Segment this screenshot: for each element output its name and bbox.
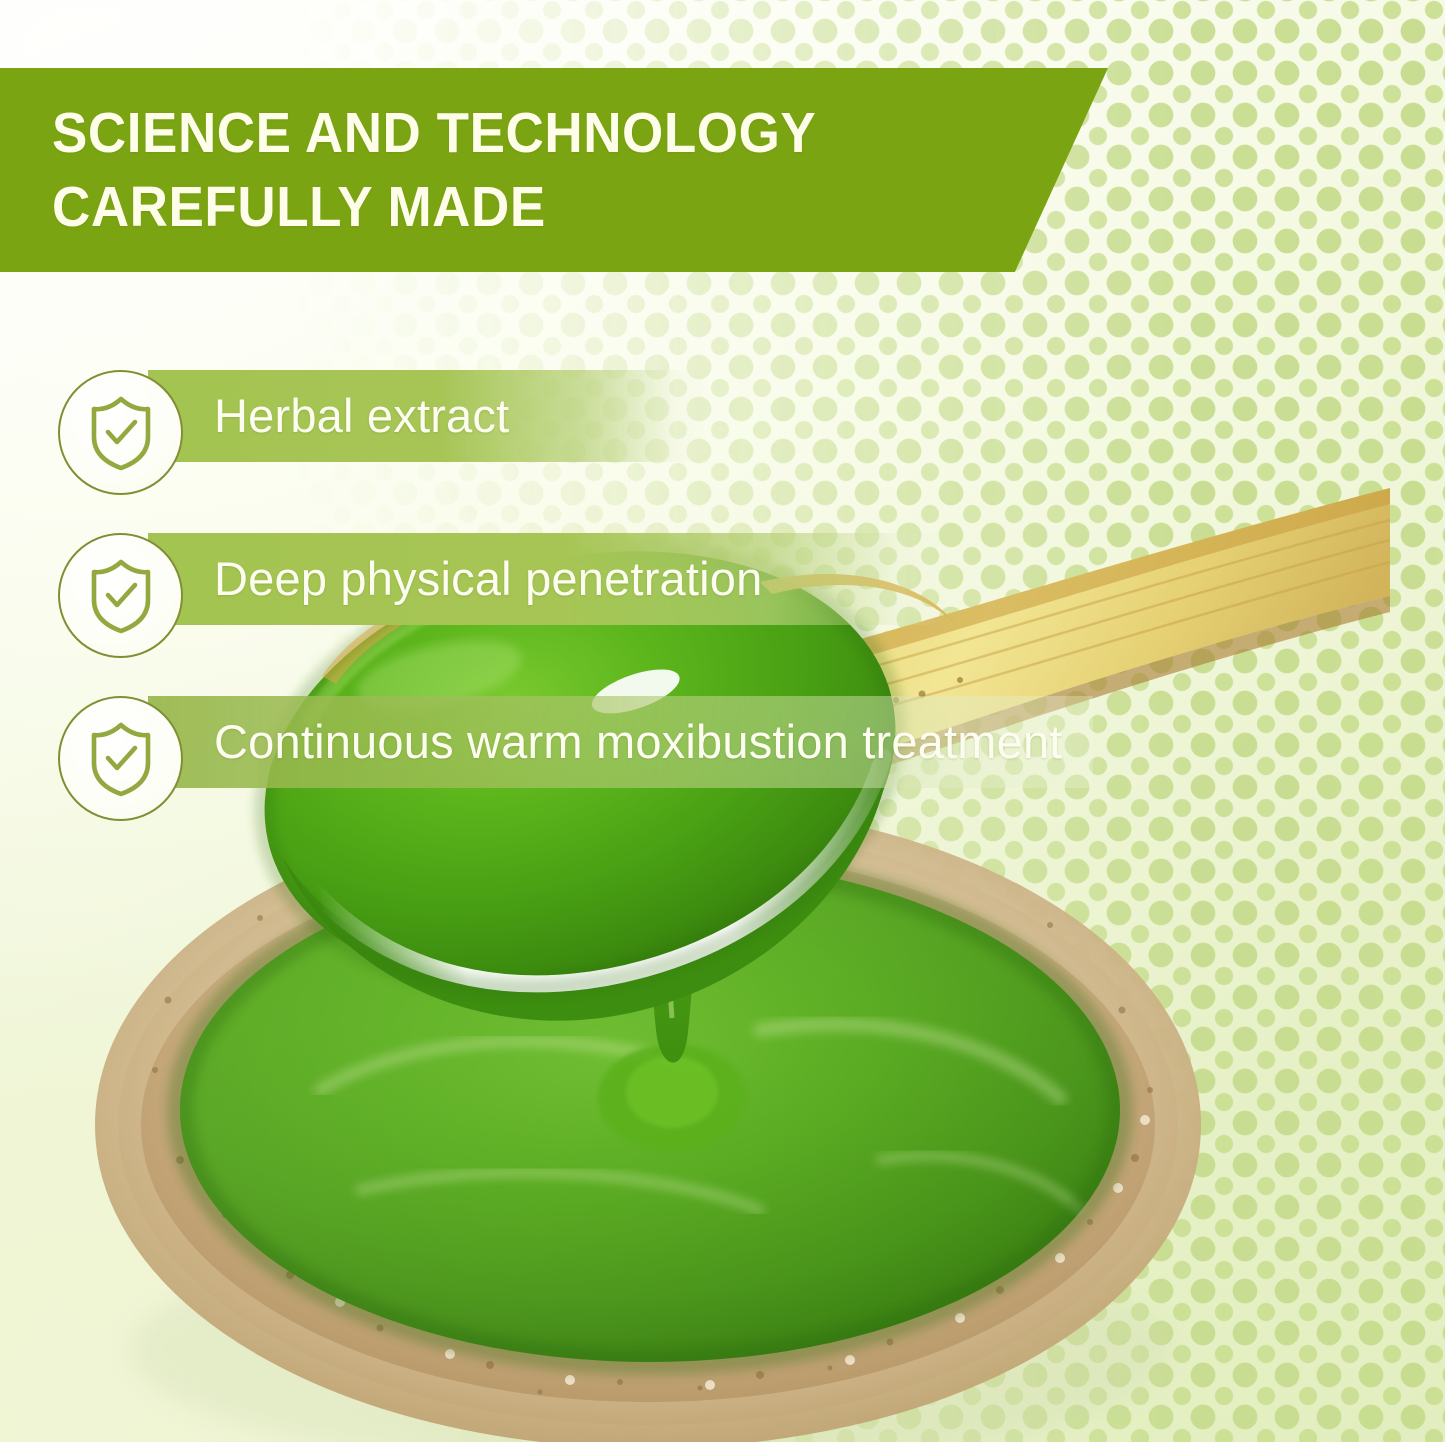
header-title-line-2: CAREFULLY MADE [52, 170, 1034, 244]
shield-check-icon-badge [58, 533, 183, 658]
feature-bar: Herbal extract [148, 370, 708, 462]
header-banner: SCIENCE AND TECHNOLOGY CAREFULLY MADE [0, 68, 1108, 272]
shield-check-icon [85, 719, 157, 799]
promo-image-canvas: SCIENCE AND TECHNOLOGY CAREFULLY MADE He… [0, 0, 1445, 1442]
shield-check-icon [85, 556, 157, 636]
shield-check-icon-badge [58, 370, 183, 495]
feature-bar: Deep physical penetration [148, 533, 948, 625]
feature-label: Continuous warm moxibustion treatment [148, 696, 1063, 788]
shield-check-icon-badge [58, 696, 183, 821]
feature-bar: Continuous warm moxibustion treatment [148, 696, 1093, 788]
feature-label: Deep physical penetration [148, 533, 762, 625]
shield-check-icon [85, 393, 157, 473]
feature-label: Herbal extract [148, 370, 509, 462]
feature-row-herbal-extract: Herbal extract [0, 370, 1445, 495]
header-title-line-1: SCIENCE AND TECHNOLOGY [52, 96, 1034, 170]
feature-row-deep-physical-penetration: Deep physical penetration [0, 533, 1445, 658]
feature-row-continuous-warm-moxibustion-treatment: Continuous warm moxibustion treatment [0, 696, 1445, 821]
